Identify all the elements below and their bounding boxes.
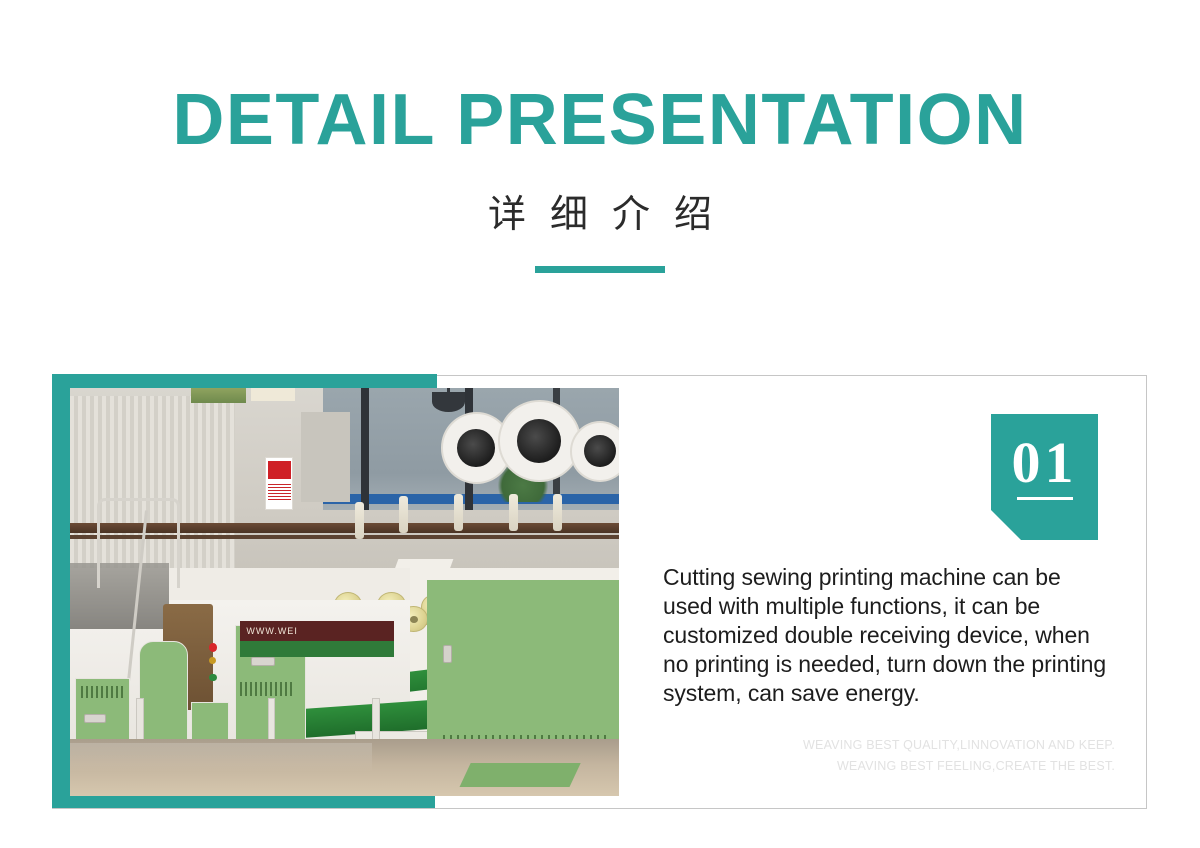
photo-grey-cabinet	[301, 412, 350, 502]
photo-poster-b	[251, 388, 295, 401]
company-slogan-line-2: WEAVING BEST FEELING,CREATE THE BEST.	[663, 756, 1115, 777]
photo-reel-2	[498, 400, 580, 482]
photo-green-panel-2	[139, 641, 188, 751]
title-underline-rule	[535, 266, 665, 273]
step-number-underline	[1017, 497, 1073, 500]
description-paragraph: Cutting sewing printing machine can be u…	[663, 563, 1115, 708]
photo-green-vent-2	[240, 682, 295, 696]
photo-post-4	[509, 494, 518, 531]
detail-presentation-page: DETAIL PRESENTATION 详细介绍	[0, 0, 1200, 848]
photo-safety-sign-header	[268, 461, 291, 479]
photo-machine-banner-green	[240, 641, 394, 658]
photo-floor-sheen	[70, 743, 372, 772]
photo-door-handle-2	[84, 714, 106, 722]
photo-cabinet-handle	[443, 645, 452, 663]
photo-post-1	[355, 502, 364, 539]
company-slogan-line-1: WEAVING BEST QUALITY,LINNOVATION AND KEE…	[663, 735, 1115, 756]
photo-frame-top-accent	[52, 374, 437, 388]
photo-machine-banner: WWW.WEI	[240, 621, 394, 658]
machine-photo-illustration: WWW.WEI	[70, 388, 619, 796]
photo-poster-a	[191, 388, 246, 403]
photo-machine-banner-text: WWW.WEI	[246, 626, 387, 643]
page-title-english: DETAIL PRESENTATION	[0, 78, 1200, 162]
photo-frame-left-accent	[52, 374, 70, 808]
page-title-chinese: 详细介绍	[0, 190, 1200, 238]
photo-post-5	[553, 494, 562, 531]
photo-emergency-stop-button	[209, 643, 217, 652]
photo-green-ramp	[460, 763, 581, 787]
company-slogan: WEAVING BEST QUALITY,LINNOVATION AND KEE…	[663, 735, 1115, 777]
machine-photo: WWW.WEI	[70, 388, 619, 796]
photo-green-vent-1	[81, 686, 125, 698]
photo-pillar-a	[361, 388, 369, 510]
photo-safety-sign-text	[268, 484, 291, 500]
photo-frame-bottom-accent	[52, 795, 435, 808]
photo-cabinet-door	[427, 580, 619, 755]
photo-start-button	[209, 674, 216, 681]
step-number-badge: 01	[991, 414, 1098, 540]
photo-post-3	[454, 494, 463, 531]
step-number-text: 01	[991, 432, 1098, 494]
photo-post-2	[399, 496, 408, 533]
photo-door-handle-1	[251, 657, 275, 666]
